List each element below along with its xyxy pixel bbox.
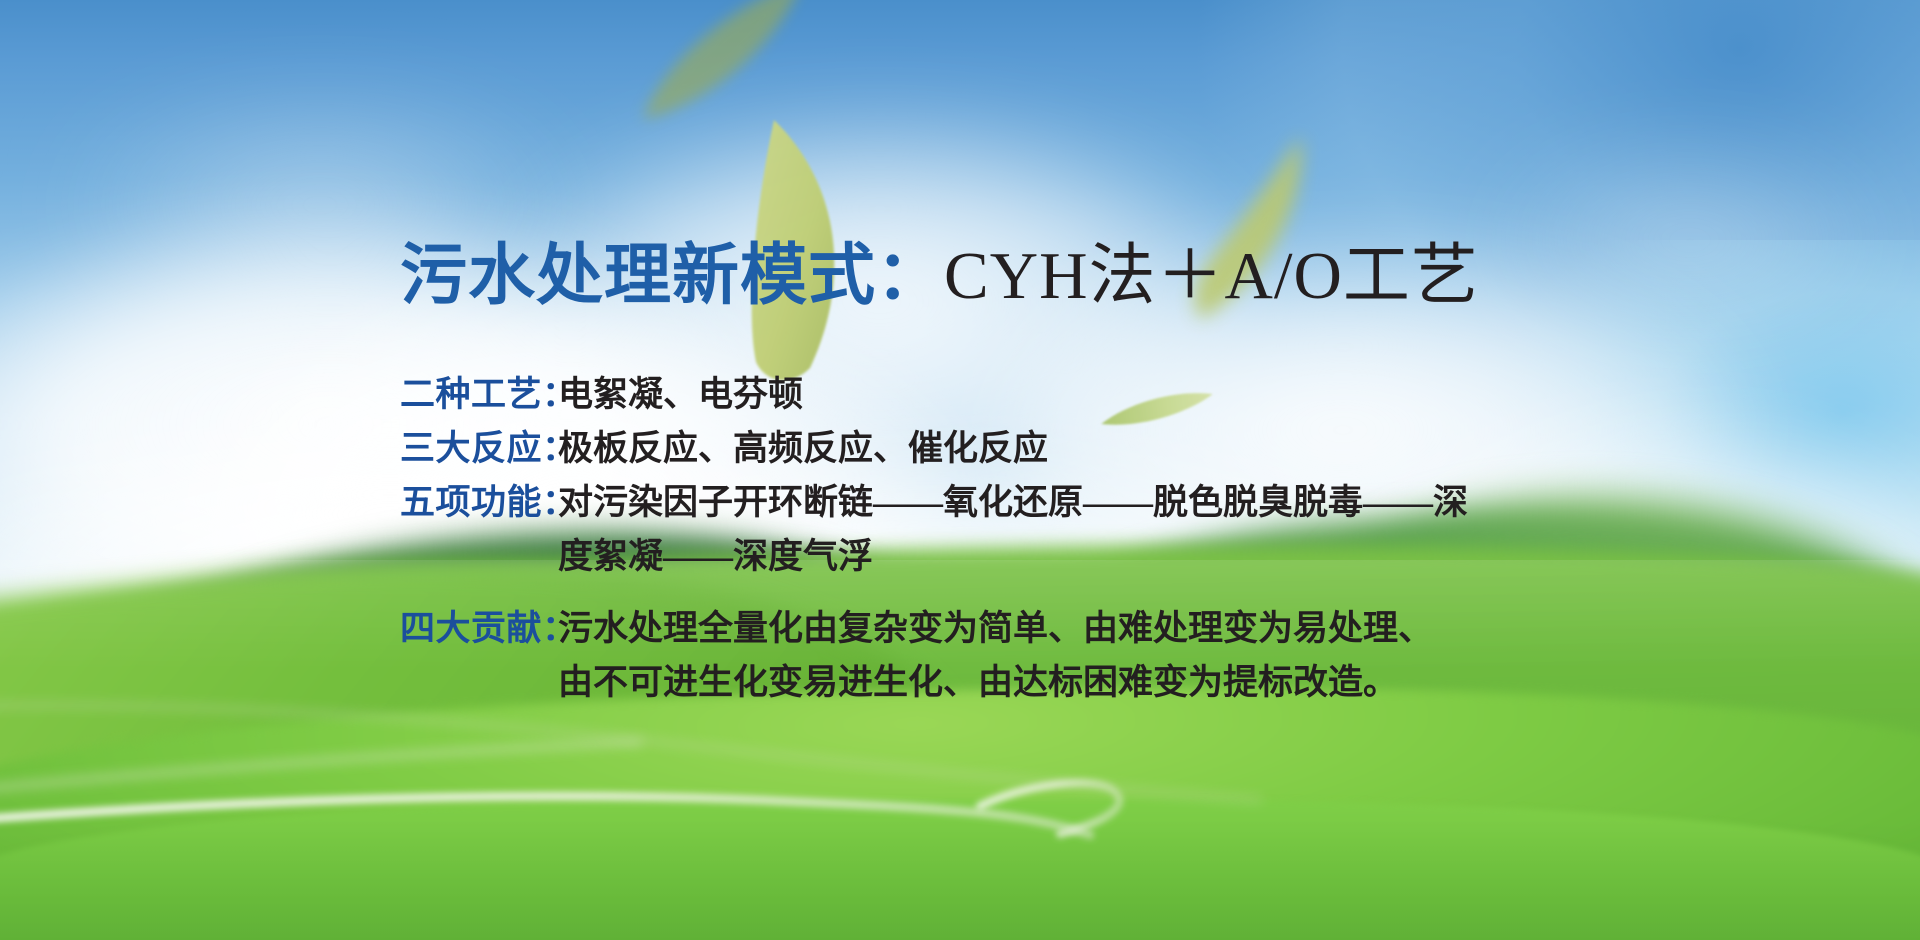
bullet-row-2: 五项功能： 对污染因子开环断链——氧化还原——脱色脱臭脱毒——深 度絮凝——深度… xyxy=(400,476,1468,584)
bullet-label-0: 二种工艺： xyxy=(400,368,558,422)
bullet-line: 污水处理全量化由复杂变为简单、由难处理变为易处理、 xyxy=(558,602,1433,656)
bullet-body-0: 电絮凝、电芬顿 xyxy=(558,368,803,422)
bullet-body-3: 污水处理全量化由复杂变为简单、由难处理变为易处理、 由不可进生化变易进生化、由达… xyxy=(558,602,1433,710)
bullet-label-3: 四大贡献： xyxy=(400,602,558,656)
bullet-line: 电絮凝、电芬顿 xyxy=(558,368,803,422)
page-title-dark: CYH法＋A/O工艺 xyxy=(944,239,1479,313)
bullet-line: 度絮凝——深度气浮 xyxy=(558,530,1468,584)
bullet-body-1: 极板反应、高频反应、催化反应 xyxy=(558,422,1048,476)
page-title-blue: 污水处理新模式： xyxy=(400,239,944,313)
bullet-line: 对污染因子开环断链——氧化还原——脱色脱臭脱毒——深 xyxy=(558,476,1468,530)
page-title: 污水处理新模式：CYH法＋A/O工艺 xyxy=(400,243,1479,310)
bullet-row-0: 二种工艺： 电絮凝、电芬顿 xyxy=(400,368,1468,422)
bullet-line: 极板反应、高频反应、催化反应 xyxy=(558,422,1048,476)
bullet-body-2: 对污染因子开环断链——氧化还原——脱色脱臭脱毒——深 度絮凝——深度气浮 xyxy=(558,476,1468,584)
bullet-label-2: 五项功能： xyxy=(400,476,558,530)
bullet-row-1: 三大反应： 极板反应、高频反应、催化反应 xyxy=(400,422,1468,476)
slide-canvas: 污水处理新模式：CYH法＋A/O工艺 二种工艺： 电絮凝、电芬顿 三大反应： 极… xyxy=(0,0,1920,940)
bullet-spacer xyxy=(400,584,1468,602)
bullet-list: 二种工艺： 电絮凝、电芬顿 三大反应： 极板反应、高频反应、催化反应 五项功能：… xyxy=(400,368,1468,710)
bullet-label-1: 三大反应： xyxy=(400,422,558,476)
bullet-line: 由不可进生化变易进生化、由达标困难变为提标改造。 xyxy=(558,656,1433,710)
text-content-layer: 污水处理新模式：CYH法＋A/O工艺 二种工艺： 电絮凝、电芬顿 三大反应： 极… xyxy=(0,0,1920,940)
bullet-row-3: 四大贡献： 污水处理全量化由复杂变为简单、由难处理变为易处理、 由不可进生化变易… xyxy=(400,602,1468,710)
